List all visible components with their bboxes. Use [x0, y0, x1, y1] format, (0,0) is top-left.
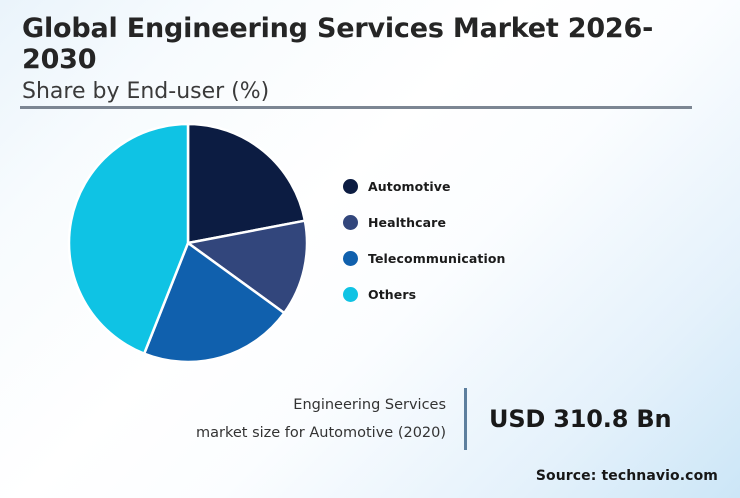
legend-label: Telecommunication [368, 251, 506, 266]
legend-label: Healthcare [368, 215, 446, 230]
legend-item-others[interactable]: Others [343, 276, 563, 312]
circle-marker-icon [343, 179, 358, 194]
callout-line-2: market size for Automotive (2020) [196, 419, 446, 447]
circle-marker-icon [343, 251, 358, 266]
callout-panel: Engineering Services market size for Aut… [196, 388, 668, 450]
callout-value: USD 310.8 Bn [467, 405, 671, 433]
circle-marker-icon [343, 215, 358, 230]
chart-legend: Automotive Healthcare Telecommunication … [343, 168, 563, 312]
pie-chart [68, 123, 308, 363]
pie-slice-group [69, 124, 307, 362]
legend-label: Others [368, 287, 416, 302]
page-subtitle: Share by End-user (%) [22, 79, 702, 105]
page-title: Global Engineering Services Market 2026-… [22, 14, 702, 76]
infographic-canvas: Global Engineering Services Market 2026-… [0, 0, 740, 498]
callout-description: Engineering Services market size for Aut… [196, 391, 464, 448]
circle-marker-icon [343, 287, 358, 302]
source-label: Source: technavio.com [536, 468, 718, 484]
legend-label: Automotive [368, 179, 451, 194]
legend-item-healthcare[interactable]: Healthcare [343, 204, 563, 240]
header: Global Engineering Services Market 2026-… [22, 14, 702, 105]
callout-line-1: Engineering Services [196, 391, 446, 419]
header-divider [20, 106, 692, 109]
pie-chart-svg [68, 123, 308, 363]
legend-item-automotive[interactable]: Automotive [343, 168, 563, 204]
legend-item-telecommunication[interactable]: Telecommunication [343, 240, 563, 276]
